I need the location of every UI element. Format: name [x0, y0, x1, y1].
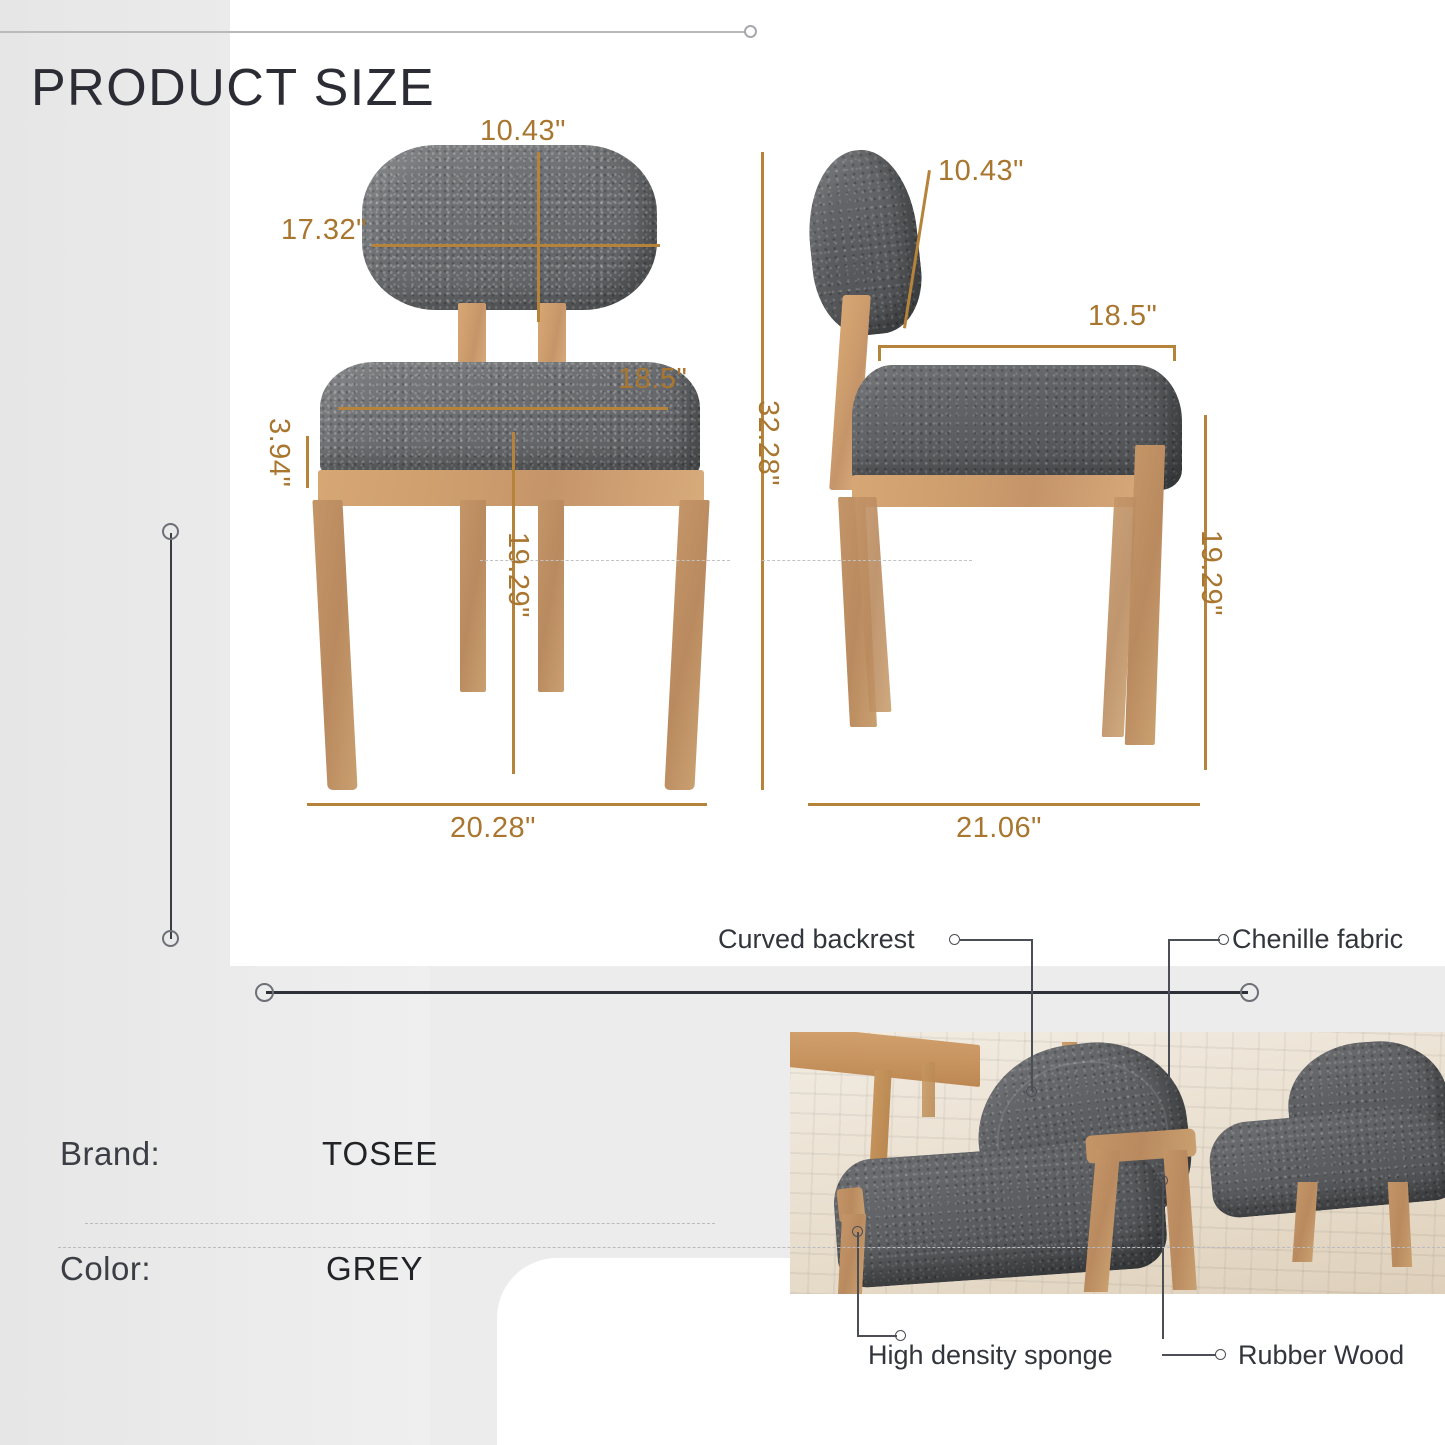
callout-lead-chenille-fabric-h: [1168, 939, 1220, 941]
front-back-post-right: [538, 303, 566, 371]
mid-rule-left-dot-icon: [255, 983, 274, 1002]
callout-lead-high-density-sponge-h: [857, 1335, 897, 1337]
callout-label-chenille-fabric: Chenille fabric: [1232, 924, 1403, 955]
infographic-canvas: PRODUCT SIZE 10.43" 17.32" 18.5" 3.94" 1…: [0, 0, 1445, 1445]
spec-key-brand: Brand:: [60, 1135, 160, 1173]
callout-lead-rubber-wood-h: [1162, 1354, 1216, 1356]
callout-lead-curved-backrest-v: [1031, 939, 1033, 1091]
side-seat-frame-rail: [852, 475, 1152, 507]
dim-label-overall-depth: 21.06": [956, 812, 1042, 845]
front-backrest-cushion: [362, 145, 657, 310]
callout-dot-rubber-wood: [1215, 1349, 1226, 1360]
callout-label-rubber-wood: Rubber Wood: [1238, 1340, 1404, 1371]
front-leg-rear-left: [460, 500, 486, 692]
dim-label-overall-height: 32.28": [751, 400, 784, 486]
callout-anchor-curved-backrest: [1026, 1086, 1037, 1097]
dim-line-seat-width-h: [338, 407, 668, 410]
photo-table-leg-2: [922, 1062, 935, 1117]
front-back-post-left: [458, 303, 486, 371]
dim-label-seat-depth: 18.5": [1088, 300, 1157, 333]
top-rule: [0, 31, 745, 33]
callout-lead-curved-backrest-h: [960, 939, 1032, 941]
callout-anchor-chenille-fabric: [1163, 1079, 1174, 1090]
dim-line-overall-depth-h: [808, 803, 1200, 806]
dim-line-backrest-width-v: [537, 152, 540, 322]
callout-dot-curved-backrest: [949, 934, 960, 945]
callout-label-curved-backrest: Curved backrest: [718, 924, 915, 955]
dim-label-backrest-height: 17.32": [281, 214, 367, 247]
page-title: PRODUCT SIZE: [31, 58, 435, 118]
spec-divider-2: [58, 1247, 1445, 1248]
dim-label-seat-width: 18.5": [618, 363, 687, 396]
spec-divider-1: [85, 1223, 715, 1224]
front-leg-front-right: [664, 500, 709, 790]
seat-height-guide-side: [762, 560, 972, 561]
lifestyle-photo: [790, 1032, 1445, 1294]
side-seat-cushion: [852, 365, 1182, 490]
photo-chair-near-leg-left: [838, 1214, 866, 1294]
spec-value-color: GREY: [326, 1250, 424, 1288]
callout-label-high-density-sponge: High density sponge: [868, 1340, 1113, 1371]
dim-line-seat-depth-cap-left: [878, 345, 881, 361]
chair-side-view: [800, 145, 1220, 785]
mid-rule-right-dot-icon: [1240, 983, 1259, 1002]
dim-line-seat-thickness-v: [306, 436, 309, 488]
front-leg-rear-right: [538, 500, 564, 692]
spec-value-brand: TOSEE: [322, 1135, 438, 1173]
dim-label-backrest-depth: 10.43": [938, 155, 1024, 188]
mid-horizontal-rule: [266, 991, 1248, 994]
seat-height-guide-front: [480, 560, 730, 561]
front-leg-front-left: [312, 500, 357, 790]
dim-line-seat-depth-cap-right: [1173, 345, 1176, 361]
callout-lead-chenille-fabric-v: [1168, 939, 1170, 1084]
left-rule-bottom-dot-icon: [162, 930, 179, 947]
dim-line-backrest-height-h: [372, 244, 660, 247]
callout-dot-high-density-sponge: [895, 1330, 906, 1341]
callout-lead-rubber-wood-v: [1162, 1181, 1164, 1339]
spec-key-color: Color:: [60, 1250, 151, 1288]
dim-label-seat-height-side: 19.29": [1194, 530, 1227, 616]
top-rule-end-dot-icon: [744, 25, 757, 38]
dim-label-seat-thickness: 3.94": [262, 418, 295, 487]
front-seat-frame-rail: [318, 470, 704, 506]
dim-line-seat-depth-h: [878, 345, 1176, 348]
dim-line-overall-width-h: [307, 803, 707, 806]
dim-label-seat-height-front: 19.29": [501, 532, 534, 618]
left-rule-top-dot-icon: [162, 523, 179, 540]
left-vertical-rule: [170, 533, 172, 939]
dim-label-backrest-width: 10.43": [480, 115, 566, 148]
dim-label-overall-width: 20.28": [450, 812, 536, 845]
